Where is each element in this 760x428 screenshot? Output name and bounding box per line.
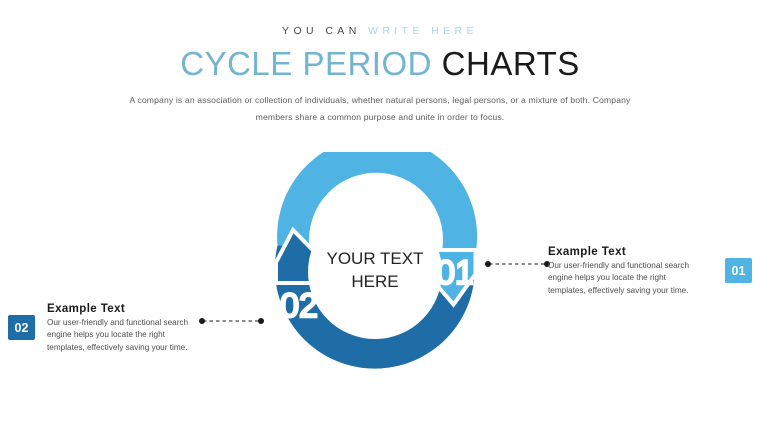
eyebrow-dark-part: YOU CAN xyxy=(282,25,361,37)
callout-02-badge[interactable]: 02 xyxy=(8,315,35,340)
callout-02-body: Example Text Our user-friendly and funct… xyxy=(47,303,199,354)
page-title: CYCLE PERIOD CHARTS xyxy=(0,45,760,83)
eyebrow-light-part: WRITE HERE xyxy=(368,25,478,37)
eyebrow-text: YOU CAN WRITE HERE xyxy=(0,25,760,37)
title-black-part: CHARTS xyxy=(442,45,580,82)
callout-01-body: Example Text Our user-friendly and funct… xyxy=(548,246,700,297)
slide-canvas: YOU CAN WRITE HERE CYCLE PERIOD CHARTS A… xyxy=(0,0,760,428)
donut-center-text: YOUR TEXT HERE xyxy=(275,248,475,294)
center-text-line-2: HERE xyxy=(275,271,475,294)
callout-02-description: Our user-friendly and functional search … xyxy=(47,317,199,354)
callout-01-badge[interactable]: 01 xyxy=(725,258,752,283)
center-text-line-1: YOUR TEXT xyxy=(275,248,475,271)
title-blue-part: CYCLE PERIOD xyxy=(180,45,432,82)
callout-02-title: Example Text xyxy=(47,303,199,315)
callout-01-description: Our user-friendly and functional search … xyxy=(548,260,700,297)
callout-01-title: Example Text xyxy=(548,246,700,258)
callout-02[interactable]: 02 Example Text Our user-friendly and fu… xyxy=(8,303,220,354)
callout-01[interactable]: Example Text Our user-friendly and funct… xyxy=(548,246,760,297)
leader-line-01 xyxy=(484,258,554,270)
subtitle-paragraph: A company is an association or collectio… xyxy=(118,92,642,126)
